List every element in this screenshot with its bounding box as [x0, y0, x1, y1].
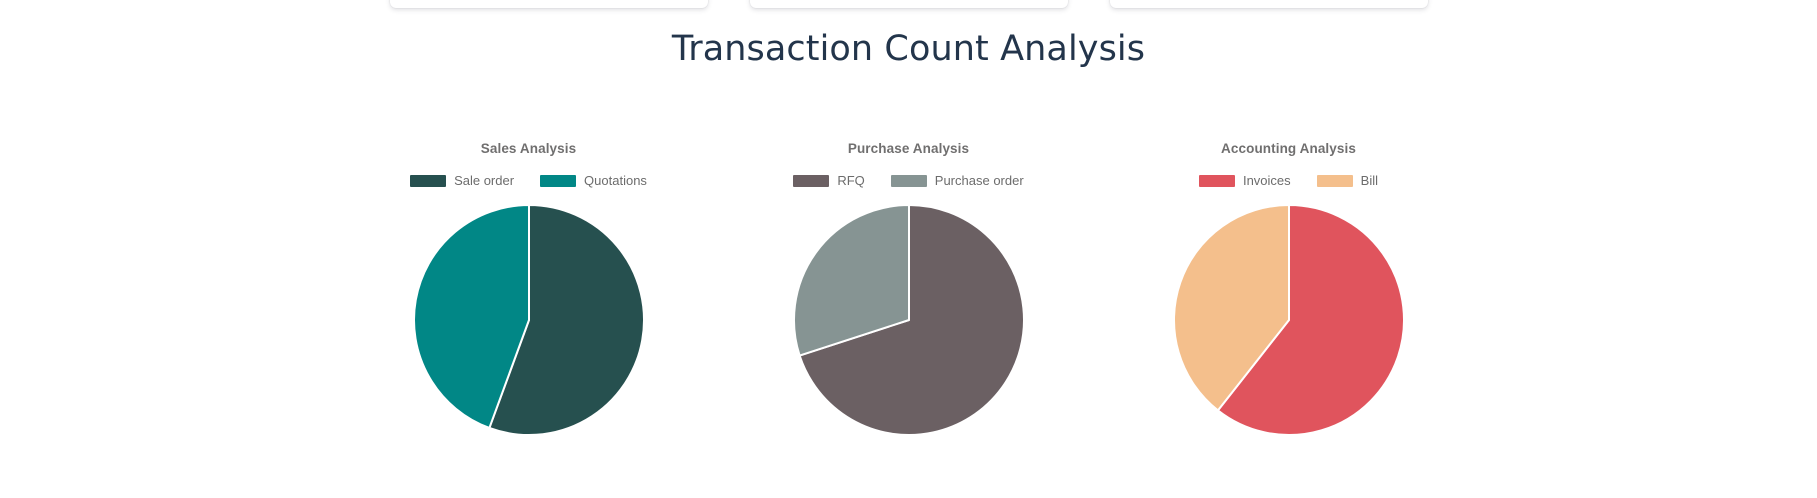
pie-chart	[793, 204, 1025, 436]
legend-item-bill[interactable]: Bill	[1317, 174, 1378, 188]
page-title: Transaction Count Analysis	[0, 28, 1817, 70]
charts-row: Sales AnalysisSale orderQuotationsPurcha…	[0, 140, 1817, 436]
legend-label: Invoices	[1243, 174, 1291, 188]
pie-chart	[1173, 204, 1405, 436]
chart-panel-purchase-analysis: Purchase AnalysisRFQPurchase order	[719, 140, 1099, 436]
legend-label: RFQ	[837, 174, 864, 188]
dashboard-page: Transaction Count Analysis Sales Analysi…	[0, 0, 1817, 498]
legend-label: Bill	[1361, 174, 1378, 188]
legend-swatch-icon	[410, 175, 446, 187]
chart-legend: Sale orderQuotations	[410, 173, 647, 189]
chart-legend: RFQPurchase order	[793, 173, 1023, 189]
top-card-strip	[0, 0, 1817, 8]
legend-swatch-icon	[793, 175, 829, 187]
legend-item-purchase-order[interactable]: Purchase order	[891, 174, 1024, 188]
chart-title: Sales Analysis	[481, 140, 576, 158]
pie-chart-container[interactable]	[413, 204, 645, 436]
chart-title: Accounting Analysis	[1221, 140, 1356, 158]
legend-label: Purchase order	[935, 174, 1024, 188]
legend-swatch-icon	[1317, 175, 1353, 187]
chart-panel-accounting-analysis: Accounting AnalysisInvoicesBill	[1099, 140, 1479, 436]
pie-chart	[413, 204, 645, 436]
chart-title: Purchase Analysis	[848, 140, 969, 158]
card-stub-1	[390, 0, 708, 8]
legend-label: Quotations	[584, 174, 647, 188]
legend-item-quotations[interactable]: Quotations	[540, 174, 647, 188]
legend-swatch-icon	[540, 175, 576, 187]
card-stub-3	[1110, 0, 1428, 8]
chart-panel-sales-analysis: Sales AnalysisSale orderQuotations	[339, 140, 719, 436]
pie-chart-container[interactable]	[1173, 204, 1405, 436]
legend-label: Sale order	[454, 174, 514, 188]
chart-legend: InvoicesBill	[1199, 173, 1378, 189]
legend-item-invoices[interactable]: Invoices	[1199, 174, 1291, 188]
legend-item-sale-order[interactable]: Sale order	[410, 174, 514, 188]
pie-chart-container[interactable]	[793, 204, 1025, 436]
legend-swatch-icon	[891, 175, 927, 187]
legend-swatch-icon	[1199, 175, 1235, 187]
legend-item-rfq[interactable]: RFQ	[793, 174, 864, 188]
card-stub-2	[750, 0, 1068, 8]
